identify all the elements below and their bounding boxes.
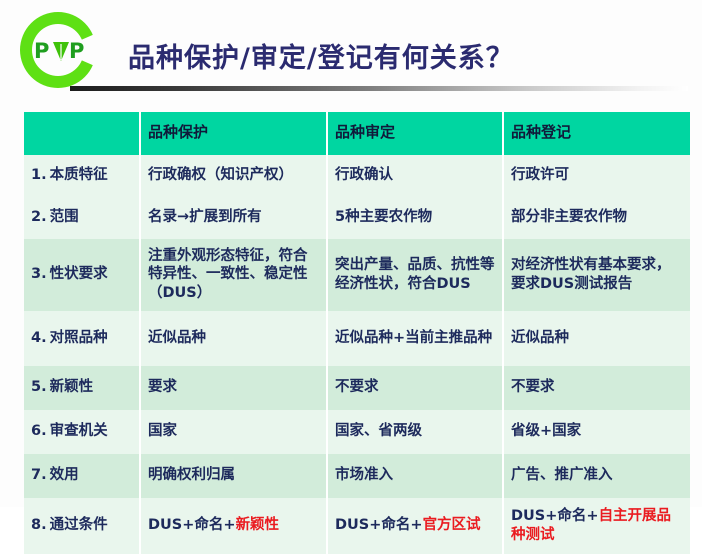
- row-label-cell: 6.审查机关: [24, 410, 140, 454]
- cell-protection: 国家: [140, 410, 327, 454]
- row-label: 审查机关: [50, 423, 108, 439]
- column-header-blank: [24, 112, 140, 155]
- cell-registration: 近似品种: [503, 311, 690, 366]
- cell-examination: 不要求: [327, 366, 503, 410]
- row-number: 1.: [31, 167, 47, 183]
- table-header-row: 品种保护 品种审定 品种登记: [24, 112, 690, 155]
- row-label: 范围: [50, 209, 79, 225]
- cell-protection: 明确权利归属: [140, 454, 327, 498]
- cell-examination: DUS+命名+官方区试: [327, 498, 503, 554]
- row-label-cell: 4.对照品种: [24, 311, 140, 366]
- cell-examination: 5种主要农作物: [327, 197, 503, 239]
- column-header-protection: 品种保护: [140, 112, 327, 155]
- row-label-cell: 5.新颖性: [24, 366, 140, 410]
- row-label: 通过条件: [50, 517, 108, 533]
- cell-examination: 行政确认: [327, 155, 503, 197]
- row-label: 对照品种: [50, 330, 108, 346]
- cell-protection: 注重外观形态特征，符合特异性、一致性、稳定性（DUS）: [140, 239, 327, 311]
- cell-registration: DUS+命名+自主开展品种测试: [503, 498, 690, 554]
- row-number: 2.: [31, 209, 47, 225]
- table-header: 品种保护 品种审定 品种登记: [24, 112, 690, 155]
- table-row: 7.效用 明确权利归属 市场准入 广告、推广准入: [24, 454, 690, 498]
- cell-registration: 不要求: [503, 366, 690, 410]
- cell-registration: 部分非主要农作物: [503, 197, 690, 239]
- comparison-table-wrapper: 品种保护 品种审定 品种登记 1.本质特征 行政确权（知识产权） 行政确认 行政…: [24, 112, 690, 554]
- pvp-logo: P P: [12, 6, 104, 94]
- cell-protection-highlight: 新颖性: [236, 517, 280, 533]
- row-label-cell: 3.性状要求: [24, 239, 140, 311]
- table-row: 4.对照品种 近似品种 近似品种+当前主推品种 近似品种: [24, 311, 690, 366]
- page-title: 品种保护/审定/登记有何关系？: [128, 36, 514, 75]
- row-number: 4.: [31, 330, 47, 346]
- cell-examination-plain: DUS+命名+: [335, 517, 423, 533]
- cell-protection-plain: DUS+命名+: [148, 517, 236, 533]
- cell-registration-plain: DUS+命名+: [511, 508, 599, 524]
- cell-examination: 突出产量、品质、抗性等经济性状，符合DUS: [327, 239, 503, 311]
- row-label-cell: 2.范围: [24, 197, 140, 239]
- row-number: 5.: [31, 379, 47, 395]
- row-label-cell: 8.通过条件: [24, 498, 140, 554]
- row-label: 新颖性: [50, 379, 94, 395]
- cell-examination: 近似品种+当前主推品种: [327, 311, 503, 366]
- row-number: 3.: [31, 266, 47, 282]
- row-label: 本质特征: [50, 167, 108, 183]
- logo-letter-p1: P: [34, 39, 49, 63]
- row-label: 性状要求: [50, 266, 108, 282]
- cell-protection: DUS+命名+新颖性: [140, 498, 327, 554]
- cell-examination: 国家、省两级: [327, 410, 503, 454]
- cell-registration: 对经济性状有基本要求，要求DUS测试报告: [503, 239, 690, 311]
- cell-protection: 名录→扩展到所有: [140, 197, 327, 239]
- row-label-cell: 1.本质特征: [24, 155, 140, 197]
- row-number: 6.: [31, 423, 47, 439]
- cell-registration: 广告、推广准入: [503, 454, 690, 498]
- row-number: 7.: [31, 467, 47, 483]
- cell-protection: 行政确权（知识产权）: [140, 155, 327, 197]
- column-header-examination: 品种审定: [327, 112, 503, 155]
- cell-examination: 市场准入: [327, 454, 503, 498]
- table-row: 3.性状要求 注重外观形态特征，符合特异性、一致性、稳定性（DUS） 突出产量、…: [24, 239, 690, 311]
- header-divider: [70, 86, 688, 91]
- cell-protection: 要求: [140, 366, 327, 410]
- slide-header: P P 品种保护/审定/登记有何关系？: [0, 0, 702, 100]
- row-label: 效用: [50, 467, 79, 483]
- table-body: 1.本质特征 行政确权（知识产权） 行政确认 行政许可 2.范围 名录→扩展到所…: [24, 155, 690, 554]
- cell-protection: 近似品种: [140, 311, 327, 366]
- cell-registration: 省级+国家: [503, 410, 690, 454]
- table-row: 6.审查机关 国家 国家、省两级 省级+国家: [24, 410, 690, 454]
- table-row: 2.范围 名录→扩展到所有 5种主要农作物 部分非主要农作物: [24, 197, 690, 239]
- comparison-table: 品种保护 品种审定 品种登记 1.本质特征 行政确权（知识产权） 行政确认 行政…: [24, 112, 690, 554]
- row-number: 8.: [31, 517, 47, 533]
- table-row: 5.新颖性 要求 不要求 不要求: [24, 366, 690, 410]
- logo-letter-p2: P: [69, 39, 84, 63]
- table-row: 8.通过条件 DUS+命名+新颖性 DUS+命名+官方区试 DUS+命名+自主开…: [24, 498, 690, 554]
- row-label-cell: 7.效用: [24, 454, 140, 498]
- cell-examination-highlight: 官方区试: [423, 517, 481, 533]
- column-header-registration: 品种登记: [503, 112, 690, 155]
- cell-registration: 行政许可: [503, 155, 690, 197]
- table-row: 1.本质特征 行政确权（知识产权） 行政确认 行政许可: [24, 155, 690, 197]
